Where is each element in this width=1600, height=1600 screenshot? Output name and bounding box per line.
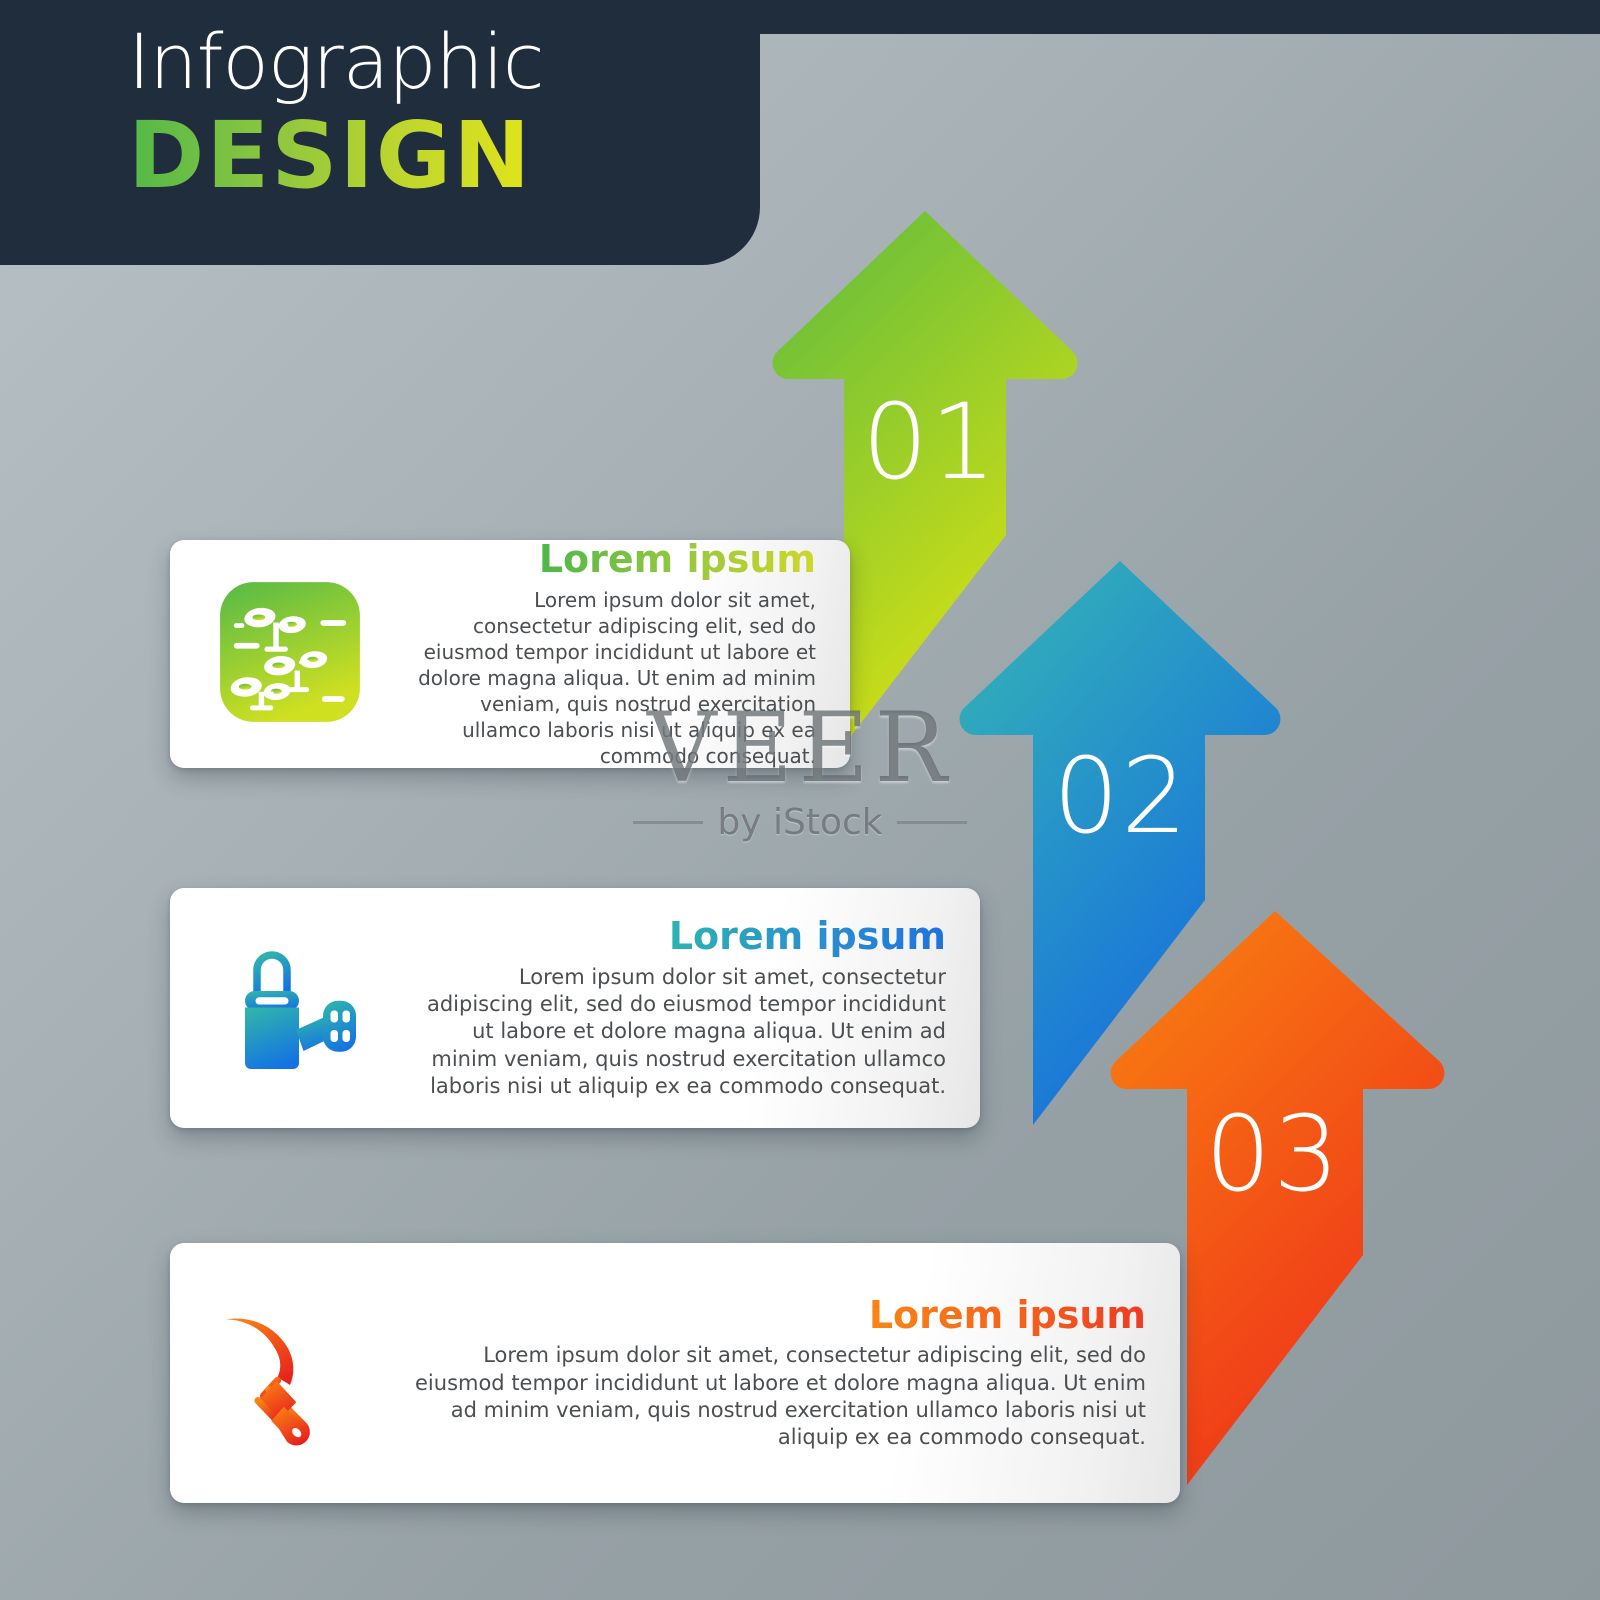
- punching-bag-icon: [215, 931, 365, 1085]
- card-3-text: Lorem ipsum dolor sit amet, consectetur …: [410, 1342, 1146, 1451]
- title-panel: Infographic DESIGN: [0, 0, 760, 265]
- card-2-body: Lorem ipsum Lorem ipsum dolor sit amet, …: [410, 916, 980, 1100]
- title-line-infographic: Infographic: [128, 24, 544, 100]
- card-3-icon-slot: [170, 1293, 410, 1453]
- card-1-icon-slot: [170, 576, 410, 732]
- title-line-design: DESIGN: [128, 110, 532, 202]
- info-card-1[interactable]: Lorem ipsum Lorem ipsum dolor sit amet, …: [170, 540, 850, 768]
- infographic-canvas: Infographic DESIGN 01: [0, 0, 1600, 1600]
- card-2-title: Lorem ipsum: [669, 916, 946, 958]
- card-2-icon-slot: [170, 931, 410, 1085]
- sickle-icon: [212, 1293, 368, 1453]
- card-3-body: Lorem ipsum Lorem ipsum dolor sit amet, …: [410, 1295, 1180, 1452]
- title-block: Infographic DESIGN: [128, 24, 544, 202]
- sprout-plants-icon: [214, 576, 366, 732]
- card-1-text: Lorem ipsum dolor sit amet, consectetur …: [410, 587, 816, 769]
- card-1-title: Lorem ipsum: [539, 539, 816, 581]
- arrow-02-number: 02: [1053, 735, 1189, 857]
- card-3-title: Lorem ipsum: [869, 1295, 1146, 1337]
- info-card-3[interactable]: Lorem ipsum Lorem ipsum dolor sit amet, …: [170, 1243, 1180, 1503]
- card-2-text: Lorem ipsum dolor sit amet, consectetur …: [410, 964, 946, 1100]
- card-1-body: Lorem ipsum Lorem ipsum dolor sit amet, …: [410, 539, 850, 769]
- info-card-2[interactable]: Lorem ipsum Lorem ipsum dolor sit amet, …: [170, 888, 980, 1128]
- arrow-01-number: 01: [862, 381, 998, 503]
